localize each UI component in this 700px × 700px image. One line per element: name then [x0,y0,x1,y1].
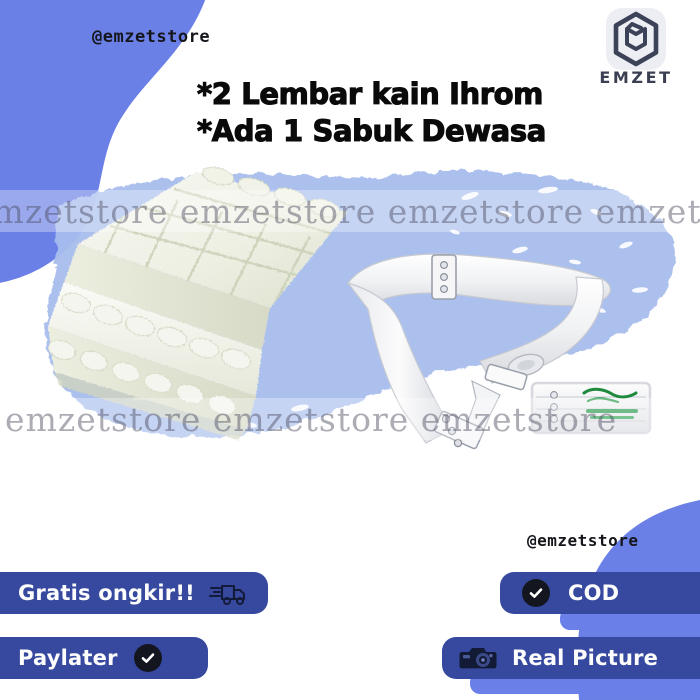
packaged-belt [532,383,650,433]
check-circle-icon [522,579,550,607]
headline-line-2: *Ada 1 Sabuk Dewasa [197,113,597,150]
promo-image-canvas: e emzetstore emzetstore emzetstore emzet… [0,0,700,700]
camera-icon [458,643,498,673]
badge-real-picture-label: Real Picture [512,646,658,670]
product-ihram-belt [340,243,670,458]
headline-line-1: *2 Lembar kain Ihrom [197,76,597,113]
hexagon-box-logo-icon [610,11,662,67]
badge-paylater-label: Paylater [18,646,118,670]
logo-wordmark: EMZET [598,68,674,87]
check-circle-icon [134,644,162,672]
headline-block: *2 Lembar kain Ihrom *Ada 1 Sabuk Dewasa [197,76,597,150]
badge-real-picture[interactable]: Real Picture [442,637,700,679]
belt-clasp-top [432,255,456,299]
badge-cod-label: COD [568,581,619,605]
delivery-truck-icon [209,580,249,606]
badge-gratis-ongkir[interactable]: Gratis ongkir!! [0,572,268,614]
brand-logo: EMZET [598,6,674,102]
badge-paylater[interactable]: Paylater [0,637,208,679]
badge-cod[interactable]: COD [500,572,700,614]
badge-gratis-ongkir-label: Gratis ongkir!! [18,581,195,605]
store-handle-bottom: @emzetstore [527,531,638,550]
store-handle-top: @emzetstore [92,27,210,47]
product-ihram-cloth [18,160,358,450]
